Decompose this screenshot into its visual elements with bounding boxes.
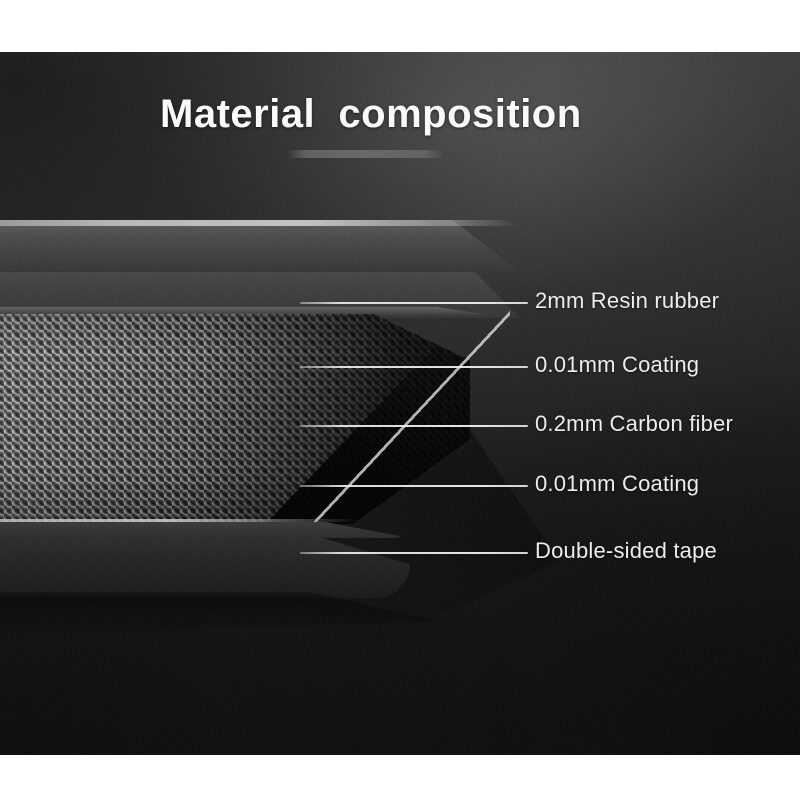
leader-line	[300, 485, 528, 487]
product-image-frame: 2mm Resin rubber 0.01mm Coating 0.2mm Ca…	[0, 0, 800, 800]
callout-label: 2mm Resin rubber	[535, 288, 719, 314]
callout-label: Double-sided tape	[535, 538, 717, 564]
title-underbar	[287, 150, 444, 158]
leader-line	[300, 425, 528, 427]
page-title: Material composition	[160, 92, 582, 137]
material-composition-photo: 2mm Resin rubber 0.01mm Coating 0.2mm Ca…	[0, 52, 800, 755]
callout-label: 0.2mm Carbon fiber	[535, 411, 733, 437]
callout-label: 0.01mm Coating	[535, 352, 699, 378]
leader-line	[300, 366, 528, 368]
leader-line	[300, 552, 528, 554]
leader-line	[300, 302, 528, 304]
letterbox-band-top	[0, 0, 800, 52]
letterbox-band-bottom	[0, 755, 800, 800]
callout-label: 0.01mm Coating	[535, 471, 699, 497]
